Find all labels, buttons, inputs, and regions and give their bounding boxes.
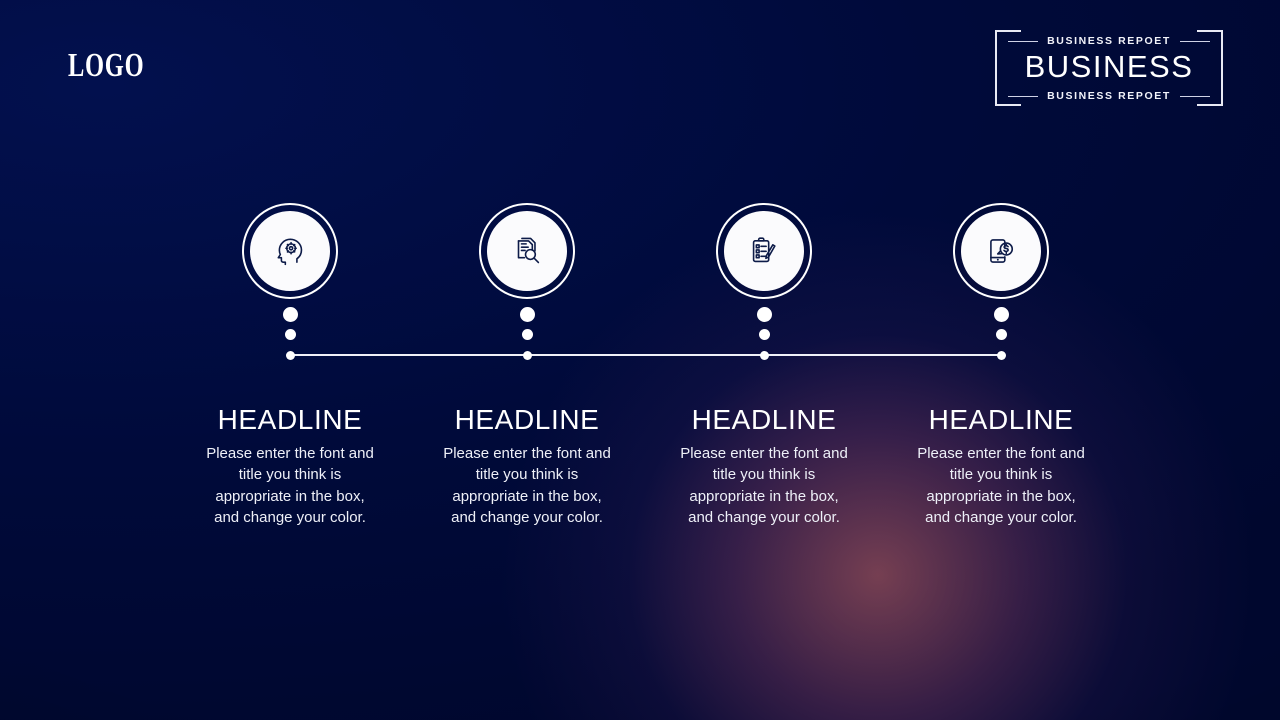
step-dot-medium (522, 329, 533, 340)
step-dot-small (997, 351, 1006, 360)
step-icon-disc (961, 211, 1041, 291)
step-icon-disc (487, 211, 567, 291)
step-body-text: Please enter the font and title you thin… (442, 443, 612, 529)
step-body-text: Please enter the font and title you thin… (679, 443, 849, 529)
step-icon-disc (724, 211, 804, 291)
step-dot-small (523, 351, 532, 360)
step-dot-large (757, 307, 772, 322)
head-gear-icon (273, 234, 307, 268)
mobile-payment-icon (984, 234, 1018, 268)
step-icon-disc (250, 211, 330, 291)
timeline: HEADLINE Please enter the font and title… (0, 0, 1280, 720)
timeline-connector-line (290, 354, 1001, 356)
step-headline: HEADLINE (397, 404, 657, 436)
step-dot-large (520, 307, 535, 322)
step-dot-medium (285, 329, 296, 340)
step-dot-small (760, 351, 769, 360)
step-headline: HEADLINE (871, 404, 1131, 436)
step-body-text: Please enter the font and title you thin… (916, 443, 1086, 529)
slide-canvas: LOGO BUSINESS REPOET BUSINESS BUSINESS R… (0, 0, 1280, 720)
clipboard-pen-icon (747, 234, 781, 268)
step-dot-large (283, 307, 298, 322)
step-dot-medium (996, 329, 1007, 340)
step-headline: HEADLINE (634, 404, 894, 436)
step-headline: HEADLINE (160, 404, 420, 436)
step-dot-small (286, 351, 295, 360)
document-search-icon (510, 234, 544, 268)
step-dot-large (994, 307, 1009, 322)
step-dot-medium (759, 329, 770, 340)
step-body-text: Please enter the font and title you thin… (205, 443, 375, 529)
